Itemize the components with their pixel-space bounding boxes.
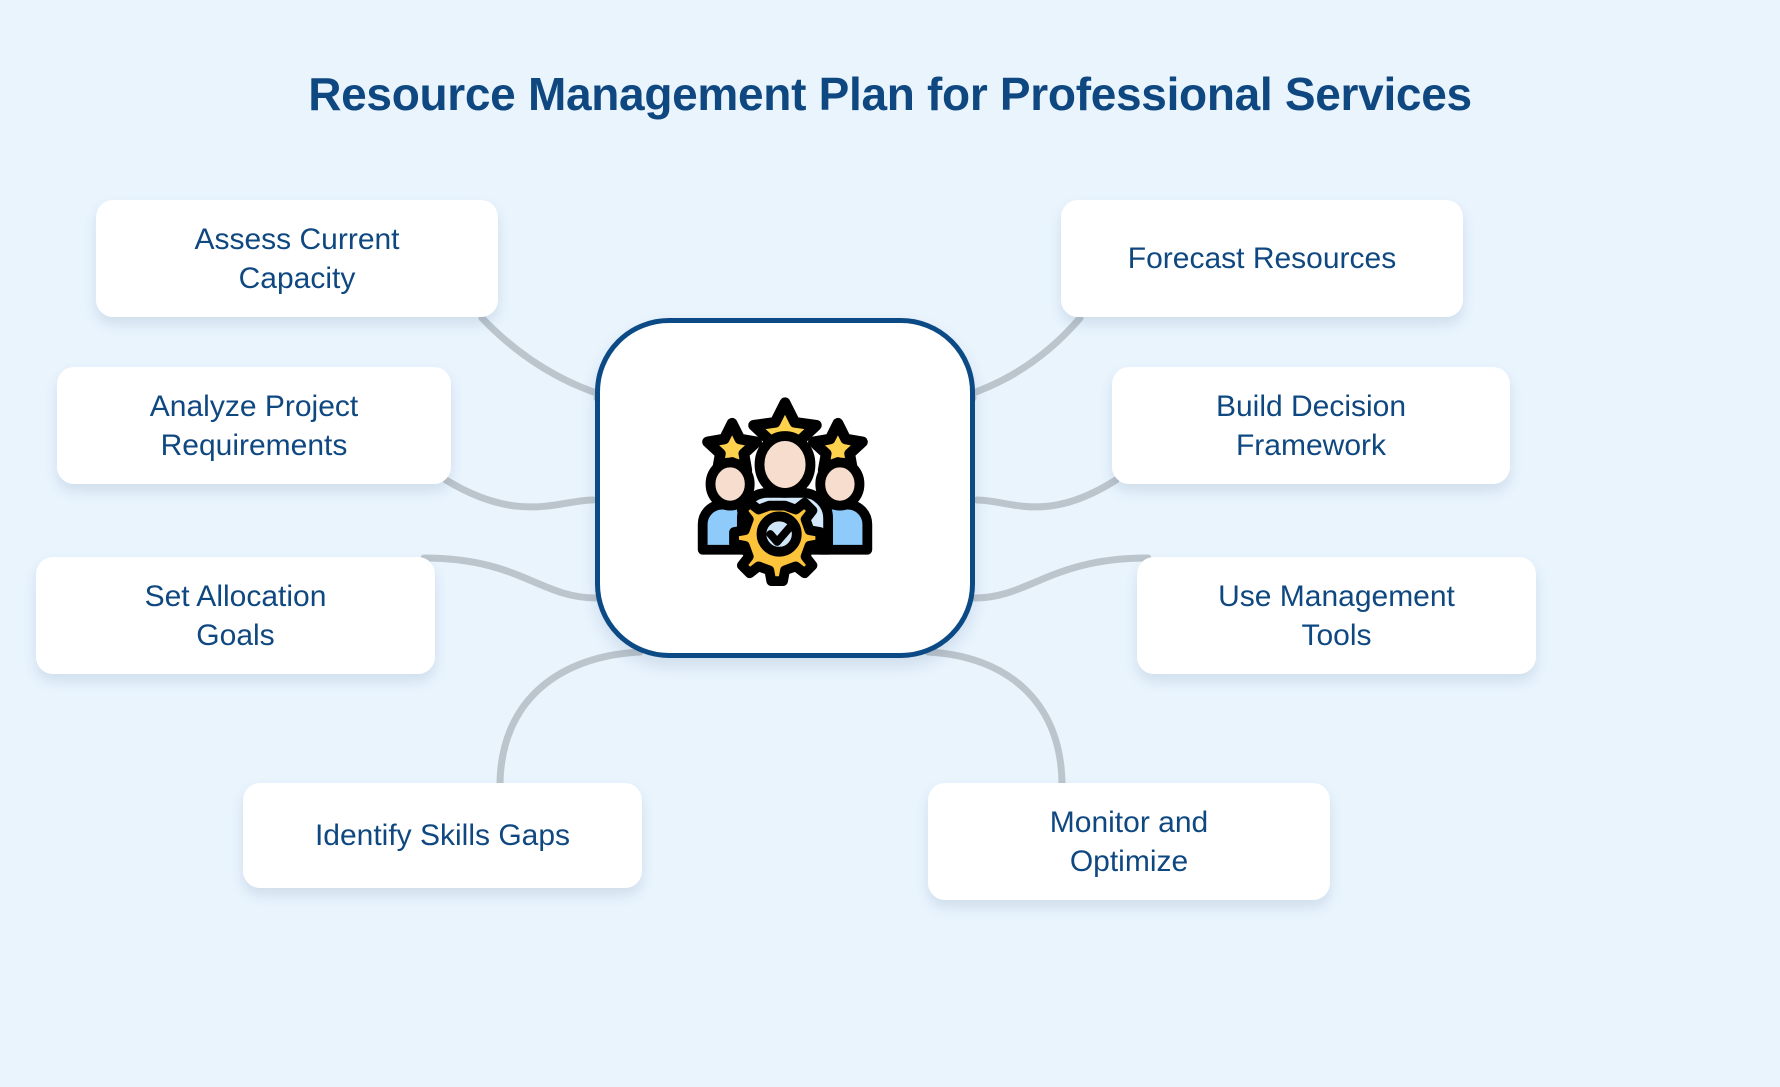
card-label: Identify Skills Gaps [315, 816, 570, 855]
card-label: Monitor and Optimize [1050, 803, 1208, 881]
card-forecast-resources[interactable]: Forecast Resources [1061, 200, 1463, 317]
connector-set-allocation-goals [424, 558, 596, 598]
team-quality-gear-icon [687, 390, 883, 586]
connector-use-management-tools [974, 558, 1148, 598]
connector-analyze-project-requirements [446, 480, 593, 507]
center-hub [595, 318, 975, 658]
card-analyze-project-requirements[interactable]: Analyze Project Requirements [57, 367, 451, 484]
card-build-decision-framework[interactable]: Build Decision Framework [1112, 367, 1510, 484]
diagram-canvas: Resource Management Plan for Professiona… [0, 0, 1780, 1087]
page-title: Resource Management Plan for Professiona… [0, 68, 1780, 121]
card-label: Use Management Tools [1218, 577, 1455, 655]
connector-build-decision-framework [977, 480, 1116, 507]
gear-badge [734, 503, 820, 581]
connector-monitor-and-optimize [928, 652, 1062, 786]
connector-forecast-resources [961, 318, 1080, 398]
card-assess-current-capacity[interactable]: Assess Current Capacity [96, 200, 498, 317]
connector-identify-skills-gaps [500, 652, 640, 786]
card-monitor-and-optimize[interactable]: Monitor and Optimize [928, 783, 1330, 900]
card-label: Assess Current Capacity [194, 220, 399, 298]
card-label: Forecast Resources [1128, 239, 1396, 278]
card-set-allocation-goals[interactable]: Set Allocation Goals [36, 557, 435, 674]
person-center-head [760, 436, 811, 493]
card-label: Set Allocation Goals [145, 577, 327, 655]
card-label: Analyze Project Requirements [150, 387, 358, 465]
connector-assess-current-capacity [482, 318, 609, 398]
card-identify-skills-gaps[interactable]: Identify Skills Gaps [243, 783, 642, 888]
card-use-management-tools[interactable]: Use Management Tools [1137, 557, 1536, 674]
card-label: Build Decision Framework [1216, 387, 1406, 465]
